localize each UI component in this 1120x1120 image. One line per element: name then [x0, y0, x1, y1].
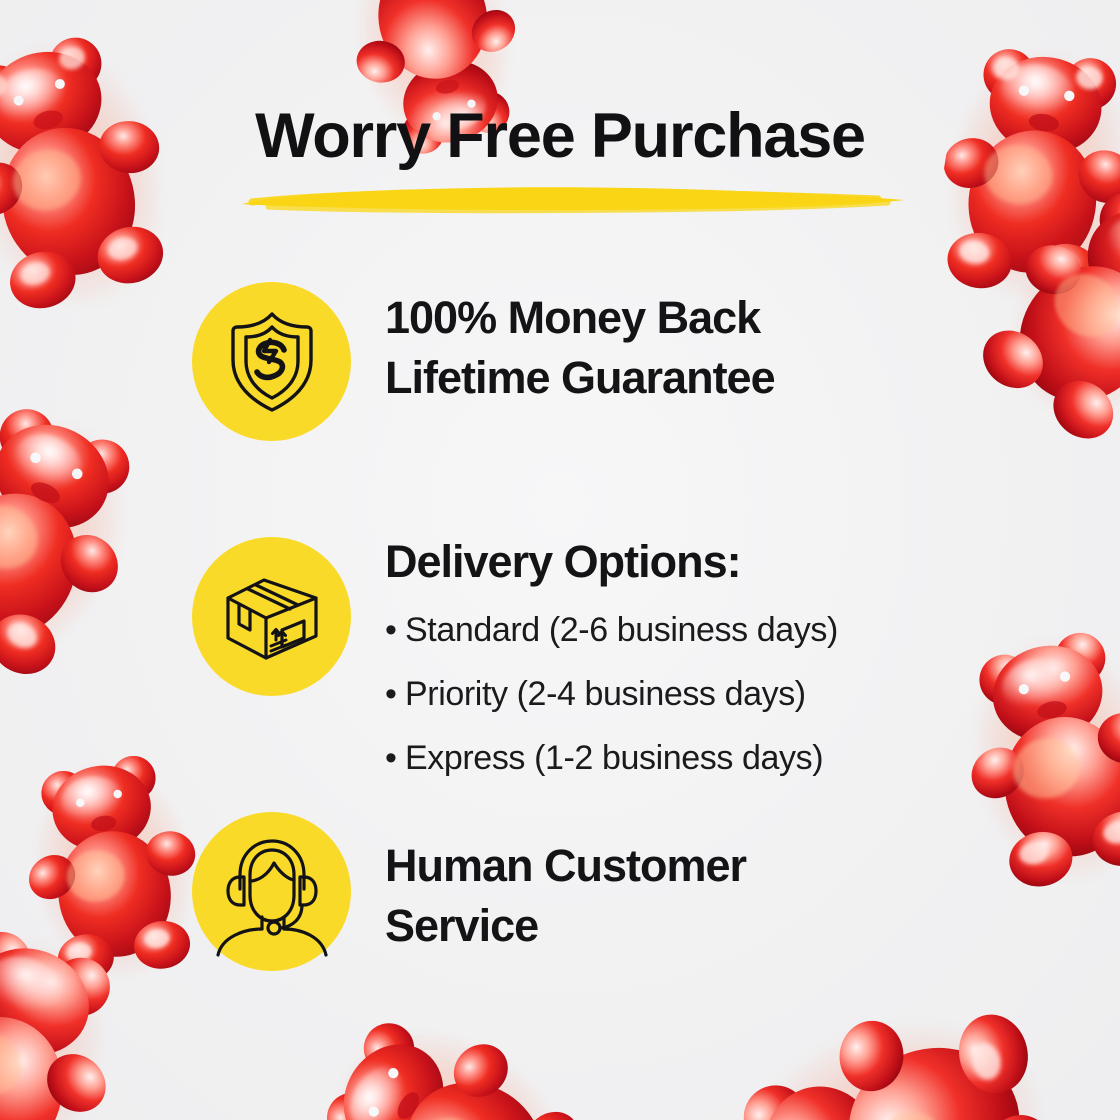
delivery-option-standard-label: Standard (2-6 business days)	[405, 611, 838, 649]
header: Worry Free Purchase	[0, 104, 1120, 170]
promo-card: Worry Free Purchase	[0, 0, 1120, 1120]
feature-customer-service: Human Customer Service	[192, 812, 746, 971]
delivery-option-priority-label: Priority (2-4 business days)	[405, 675, 806, 713]
delivery-option-list: •Standard (2-6 business days) •Priority …	[385, 599, 838, 791]
feature-text-money-back: 100% Money Back Lifetime Guarantee	[385, 282, 775, 408]
feature-text-customer-service: Human Customer Service	[385, 812, 746, 956]
shield-s-icon	[224, 310, 320, 414]
gummy-bear-right-middle	[941, 600, 1120, 915]
title-underline-brushstroke	[238, 182, 908, 216]
feature-heading-delivery: Delivery Options:	[385, 537, 838, 587]
gummy-bear-top-left	[0, 3, 209, 345]
shipping-box-icon-badge	[192, 537, 351, 696]
customer-support-agent-icon-badge	[192, 812, 351, 971]
bullet-icon: •	[385, 663, 405, 727]
feature-heading-customer-service: Human Customer Service	[385, 836, 746, 956]
gummy-bear-right-upper-cluster	[943, 140, 1120, 482]
bullet-icon: •	[385, 727, 405, 791]
customer-support-agent-icon	[210, 829, 334, 955]
gummy-bear-left-bottom	[0, 888, 165, 1120]
delivery-option-express: •Express (1-2 business days)	[385, 727, 838, 791]
feature-heading-money-back: 100% Money Back Lifetime Guarantee	[385, 288, 775, 408]
feature-text-delivery: Delivery Options: •Standard (2-6 busines…	[385, 537, 838, 791]
bullet-icon: •	[385, 599, 405, 663]
page-title: Worry Free Purchase	[0, 104, 1120, 170]
feature-delivery-options: Delivery Options: •Standard (2-6 busines…	[192, 537, 838, 791]
feature-money-back-guarantee: 100% Money Back Lifetime Guarantee	[192, 282, 775, 441]
gummy-bear-bottom-right	[704, 961, 1087, 1120]
delivery-option-standard: •Standard (2-6 business days)	[385, 599, 838, 663]
shield-s-icon-badge	[192, 282, 351, 441]
delivery-option-priority: •Priority (2-4 business days)	[385, 663, 838, 727]
gummy-bear-top-right	[923, 20, 1120, 333]
delivery-option-express-label: Express (1-2 business days)	[405, 739, 823, 777]
gummy-bear-left-middle	[0, 366, 190, 721]
shipping-box-icon	[220, 568, 324, 666]
gummy-bear-bottom-center	[281, 963, 630, 1120]
